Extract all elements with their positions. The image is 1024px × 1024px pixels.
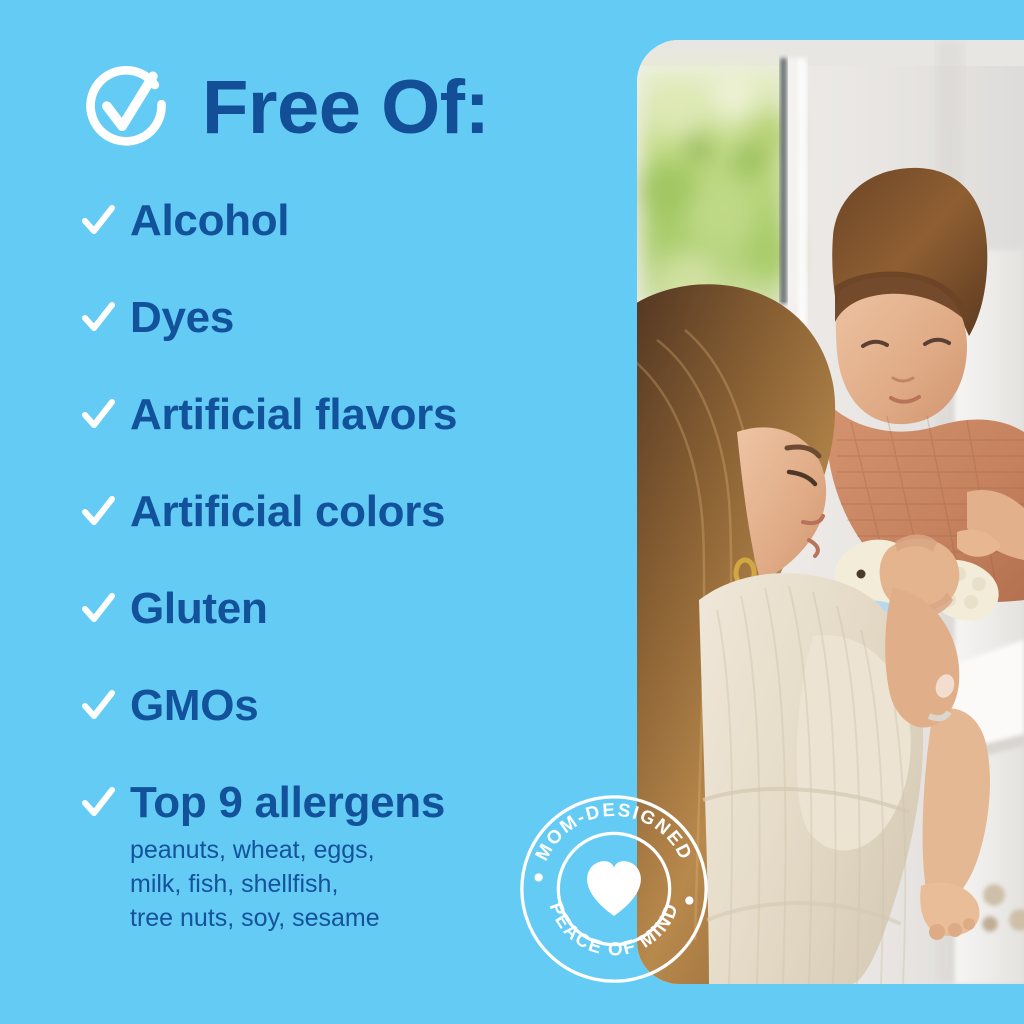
check-icon [80,592,116,628]
list-item-gluten: Gluten [78,584,618,681]
list-item-label: Artificial flavors [130,390,457,439]
check-icon [80,495,116,531]
badge-separator-dot-left [535,873,543,881]
list-item-label: Dyes [130,293,234,342]
list-item-alcohol: Alcohol [78,196,618,293]
free-of-list: Alcohol Dyes Artificial flavors Artifici… [78,196,618,778]
list-item-label: GMOs [130,681,258,730]
list-item-label: Alcohol [130,196,289,245]
list-item-dyes: Dyes [78,293,618,390]
list-item-artificial-flavors: Artificial flavors [78,390,618,487]
check-icon [80,204,116,240]
page-header: Free Of: [78,60,489,156]
list-item-label: Top 9 allergens [130,778,445,827]
list-item-label: Gluten [130,584,268,633]
page-title: Free Of: [202,70,489,146]
heart-icon [587,861,641,916]
mom-designed-badge: MOM-DESIGNED PEACE OF MIND [518,793,710,985]
list-item-gmos: GMOs [78,681,618,778]
promo-graphic: Free Of: Alcohol Dyes Artificial fl [0,0,1024,1024]
check-icon [80,301,116,337]
list-item-sublabel: peanuts, wheat, eggs, milk, fish, shellf… [130,834,380,935]
circle-check-icon [78,60,174,156]
check-icon [80,398,116,434]
badge-separator-dot-right [685,896,693,904]
badge-top-text: MOM-DESIGNED [531,799,698,864]
check-icon [80,689,116,725]
list-item-label: Artificial colors [130,487,445,536]
list-item-artificial-colors: Artificial colors [78,487,618,584]
check-icon [80,786,116,822]
